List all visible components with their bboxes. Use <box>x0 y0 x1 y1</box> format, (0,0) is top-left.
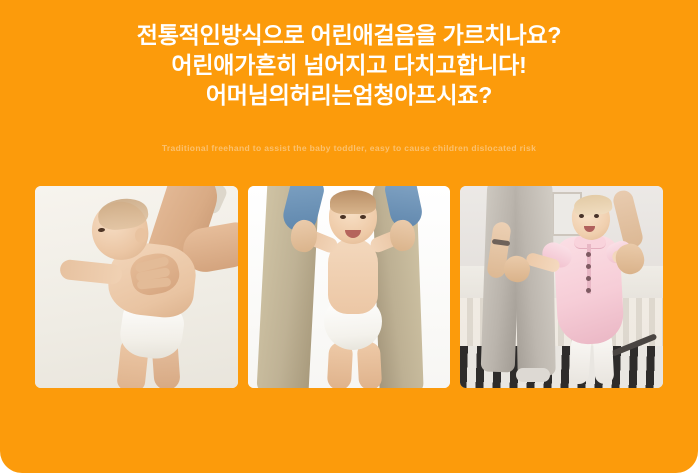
photo-card-baby-standing-hands-held <box>248 186 451 388</box>
photo-baby-held-horizontal <box>35 186 238 388</box>
headline-line-1: 전통적인방식으로 어린애걸음을 가르치나요? <box>0 20 698 50</box>
photo-card-baby-held-horizontal <box>35 186 238 388</box>
headline-line-2: 어린애가흔히 넘어지고 다치고합니다! <box>0 50 698 80</box>
subtitle-text: Traditional freehand to assist the baby … <box>0 143 698 153</box>
photo-baby-standing-hands-held <box>248 186 451 388</box>
photo2-baby-hair <box>330 190 376 214</box>
photo2-baby-eye-left <box>340 215 346 219</box>
headline-line-3: 어머님의허리는엄청아프시죠? <box>0 80 698 110</box>
photo-card-toddler-pink-dress-walking <box>460 186 663 388</box>
promo-banner: 전통적인방식으로 어린애걸음을 가르치나요? 어린애가흔히 넘어지고 다치고합니… <box>0 0 698 473</box>
photo1-baby-ear <box>135 228 147 243</box>
photo-toddler-pink-dress-walking <box>460 186 663 388</box>
photo-strip <box>35 186 663 388</box>
headline-block: 전통적인방식으로 어린애걸음을 가르치나요? 어린애가흔히 넘어지고 다치고합니… <box>0 20 698 110</box>
photo3-adult-shoe <box>516 368 550 382</box>
photo2-baby-eye-right <box>360 215 366 219</box>
